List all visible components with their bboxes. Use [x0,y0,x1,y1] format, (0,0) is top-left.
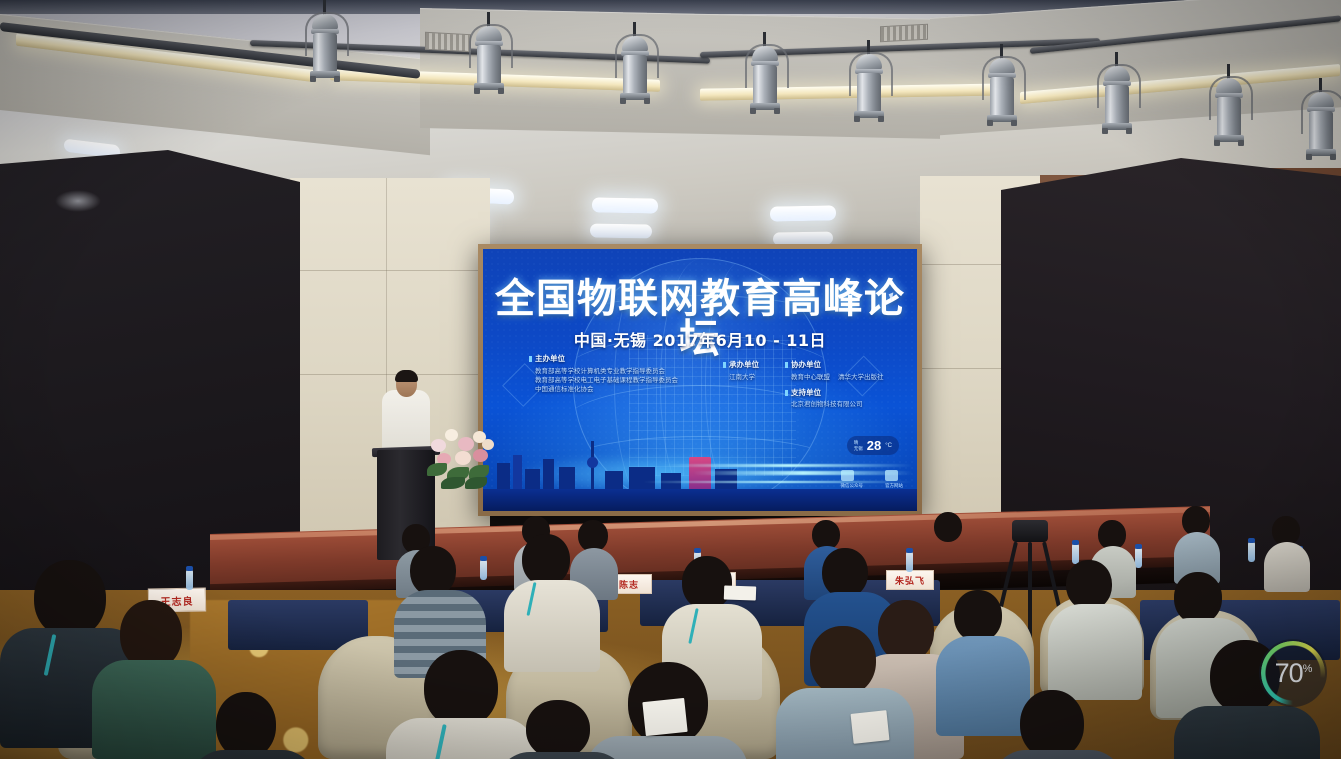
supporter-label: 支持单位 [785,387,892,398]
bottle-cap [186,566,193,571]
flower [482,439,494,450]
spotlight-foot-left [987,120,993,126]
water-bottle [1072,544,1079,564]
attendee-body [1264,542,1310,592]
attendee-body [776,688,914,759]
spotlight-foot-right [878,116,884,122]
water-bottle [480,560,487,580]
host-label: 主办单位 [529,353,678,364]
wall-seam [290,374,490,375]
air-vent-2 [880,24,928,43]
spotlight-body [477,45,501,85]
spotlight-foot-left [620,98,626,104]
skyline-building [629,467,655,489]
organizers-organizer-column: 承办单位 江南大学 [723,359,759,382]
flower [473,449,488,462]
skyline-building [525,469,540,489]
water-bottle [906,552,913,572]
attendee-head [424,650,498,728]
flower [431,439,446,452]
light-streak [643,481,913,483]
organizer-item: 江南大学 [723,373,759,382]
attendee-head [1066,560,1112,610]
screen-skyline-graphic [483,435,917,511]
panel-light [592,197,658,213]
led-screen: 全国物联网教育高峰论坛 中国·无锡 2017年6月10 - 11日 主办单位 教… [483,249,917,511]
attendee-head [34,560,106,638]
spotlight-body [1217,97,1241,137]
handout-paper [724,585,756,600]
video-camera [1012,520,1048,542]
foliage [441,477,465,489]
spotlight-foot-left [474,88,480,94]
water-bottle [1248,542,1255,562]
spotlight-foot-right [1238,140,1244,146]
progress-number: 70 [1275,658,1303,688]
conference-photo: 全国物联网教育高峰论坛 中国·无锡 2017年6月10 - 11日 主办单位 教… [0,0,1341,759]
host-item: 教育部高等学校计算机类专业教学指导委员会 [529,367,678,376]
spotlight-foot-right [1330,154,1336,160]
skyline-building [497,463,510,489]
wall-light-reflection [55,190,101,212]
spotlight-foot-right [498,88,504,94]
screen-base-strip [483,489,917,511]
screen-organizers: 主办单位 教育部高等学校计算机类专业教学指导委员会 教育部高等学校电工电子基础课… [483,353,917,423]
light-streak [663,464,913,467]
spotlight-body [857,73,881,113]
spotlight-foot-left [854,116,860,122]
attendee-head [1174,572,1222,624]
attendee-head [682,556,732,610]
progress-unit: % [1303,663,1312,675]
supporter-item: 北京君创物科技有限公司 [785,400,892,409]
host-item: 中国通信标准化协会 [529,385,678,394]
flower [455,451,471,465]
spotlight-body [623,55,647,95]
spotlight-foot-right [334,76,340,82]
attendee-head [954,590,1002,642]
organizers-coorganizer-column: 协办单位 教育中心联盟清华大学出版社 支持单位 北京君创物科技有限公司 [785,359,892,409]
attendee-head [522,534,570,586]
attendee-head [810,626,876,696]
attendee-body [92,660,216,759]
skyline-building [513,455,522,489]
spotlight-body [1105,85,1129,125]
spotlight-body [313,33,337,73]
spotlight-foot-left [750,108,756,114]
skyline-building [543,459,554,489]
spotlight-foot-left [1306,154,1312,160]
progress-watermark: 70% [1259,639,1327,707]
handout-paper [851,710,890,744]
host-item: 教育部高等学校电工电子基础课程教学指导委员会 [529,376,678,385]
coorganizer-item: 教育中心联盟 [791,373,830,382]
water-bottle [1135,548,1142,568]
air-vent-1 [425,32,471,52]
attendee-body [504,580,600,672]
water-bottle [186,570,193,590]
attendee-body [926,538,972,590]
progress-value: 70% [1275,658,1312,689]
handout-paper [642,698,687,736]
speaker-hair [395,370,418,382]
led-screen-frame: 全国物联网教育高峰论坛 中国·无锡 2017年6月10 - 11日 主办单位 教… [478,244,922,516]
spotlight-body [990,77,1014,117]
screen-subtitle: 中国·无锡 2017年6月10 - 11日 [483,327,917,351]
attendee-head [1020,690,1084,759]
light-streak [693,471,913,475]
foliage [427,463,447,476]
spotlight-body [753,65,777,105]
bottle-cap [1248,538,1255,543]
bottle-cap [1135,544,1142,549]
attendee-head [410,546,456,596]
coorganizer-item: 清华大学出版社 [838,373,884,382]
panel-light [770,205,836,221]
attendee-body [386,718,536,759]
spotlight-foot-left [1102,128,1108,134]
organizer-label: 承办单位 [723,359,759,370]
flower [458,437,474,451]
coorganizer-label: 协办单位 [785,359,892,370]
spotlight-foot-left [1214,140,1220,146]
skyline-building [605,471,623,489]
spotlight-foot-right [774,108,780,114]
bottle-cap [694,548,701,553]
attendee-head [526,700,590,759]
attendee-head [822,548,868,598]
foliage [465,477,487,489]
floral-arrangement [425,425,497,495]
spotlight-foot-right [1126,128,1132,134]
skyline-building [559,467,575,489]
spotlight-foot-left [310,76,316,82]
skyline-tv-tower [591,441,594,489]
panel-light [590,223,652,238]
bottle-cap [480,556,487,561]
bottle-cap [1072,540,1079,545]
flower [445,429,458,441]
organizers-host-column: 主办单位 教育部高等学校计算机类专业教学指导委员会 教育部高等学校电工电子基础课… [529,353,678,394]
attendee-body [936,636,1030,736]
attendee-head [216,692,276,759]
attendee-body [1048,604,1142,700]
bottle-cap [906,548,913,553]
spotlight-foot-right [1011,120,1017,126]
spotlight-body [1309,111,1333,151]
attendee-body [1174,706,1320,759]
attendee-head [878,600,934,662]
spotlight-foot-right [644,98,650,104]
coorganizer-items-row: 教育中心联盟清华大学出版社 [785,373,892,382]
wall-seam [290,270,490,271]
